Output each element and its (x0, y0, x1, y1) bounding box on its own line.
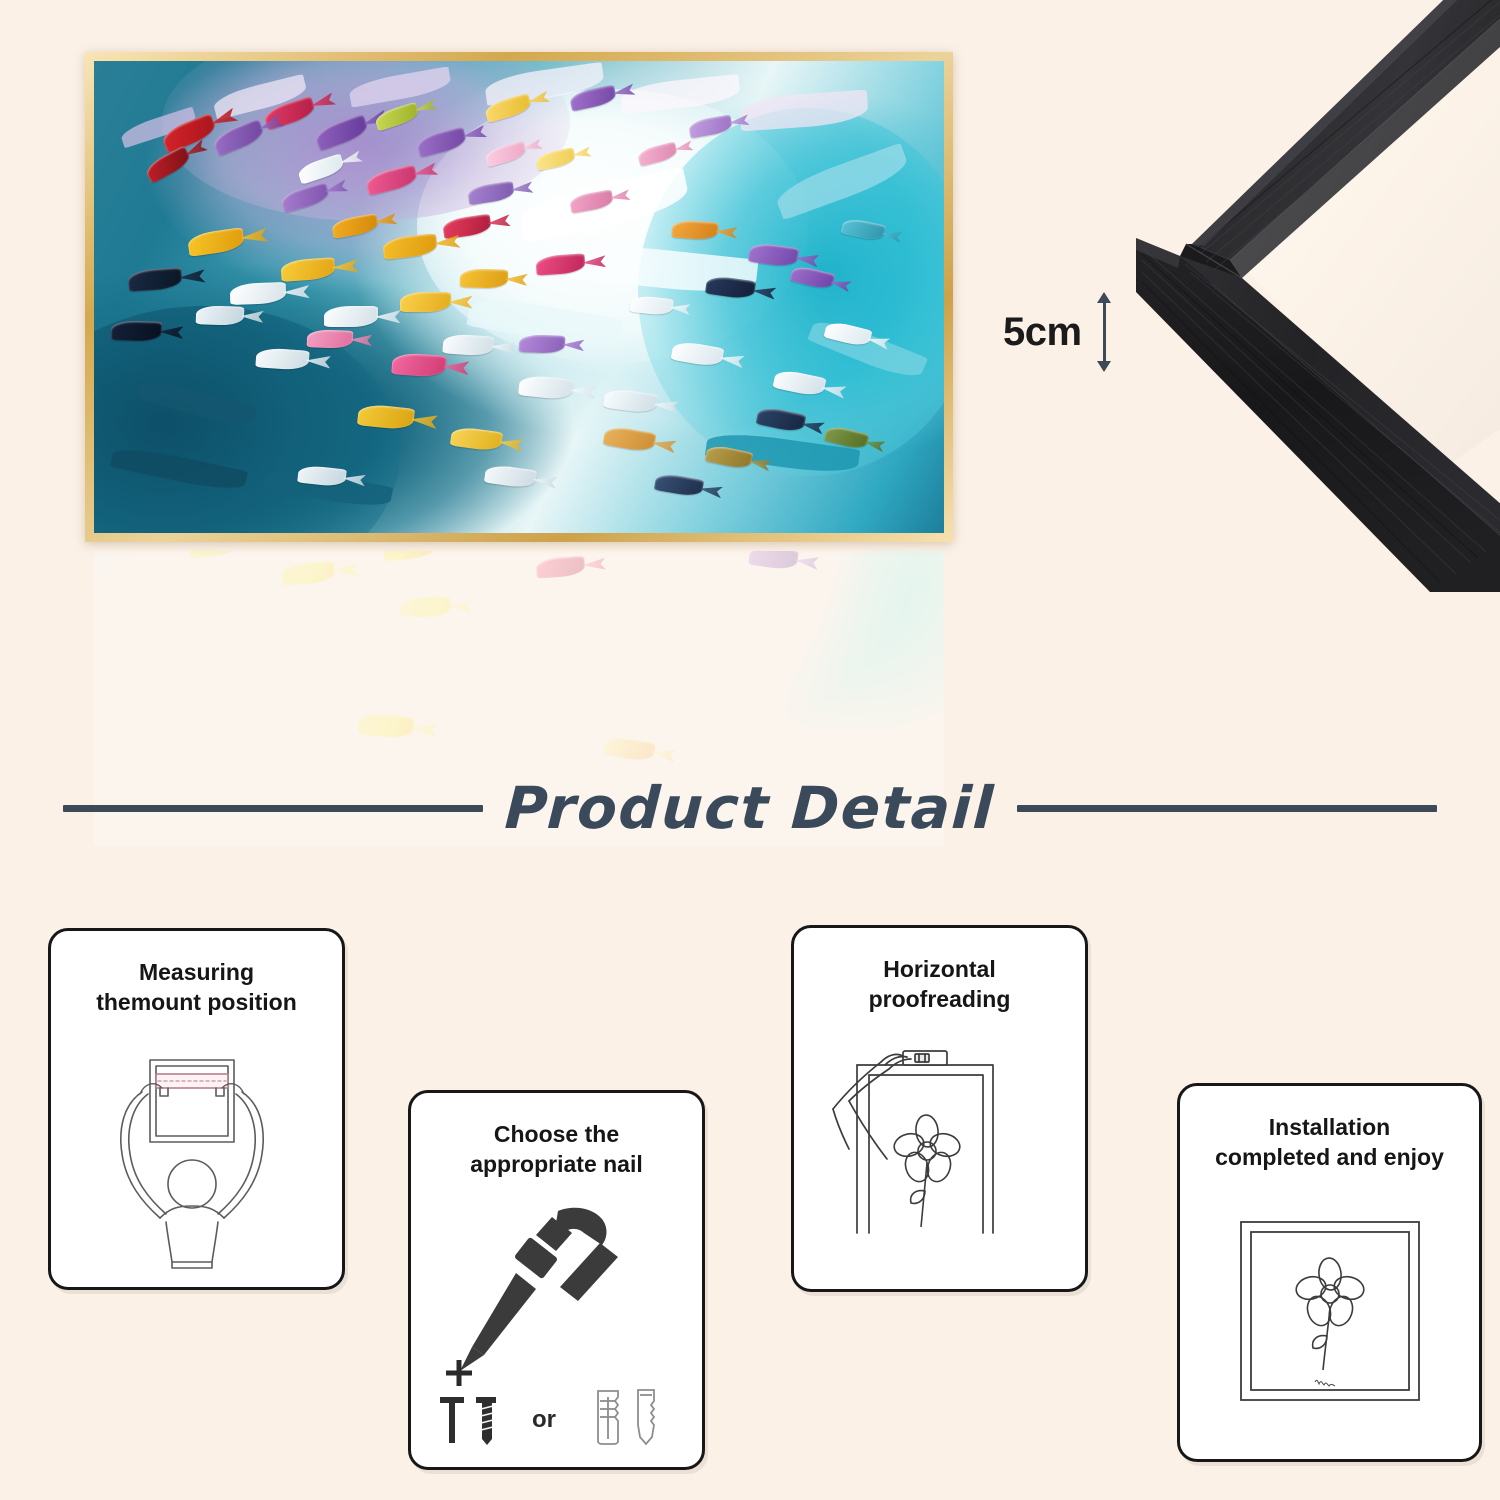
fish (306, 329, 352, 349)
vertical-double-arrow-icon (1096, 292, 1112, 372)
impasto-stroke (772, 143, 911, 221)
fish (519, 334, 565, 354)
fish (790, 264, 835, 291)
fish-reflection (356, 711, 414, 739)
card-title: Horizontal proofreading (855, 954, 1025, 1015)
fish-reflection (603, 734, 657, 763)
signature-mark (1315, 1380, 1335, 1386)
fish (535, 147, 577, 171)
black-frame-corner-photo (1130, 0, 1500, 592)
fish (688, 114, 733, 138)
fish (841, 217, 886, 242)
fish (279, 182, 330, 213)
impasto-stroke (136, 375, 257, 430)
fish (654, 472, 704, 498)
card-title: Measuring themount position (82, 957, 311, 1018)
impasto-stroke (348, 66, 453, 107)
fish (756, 406, 806, 434)
impasto-stroke (620, 74, 741, 115)
card-art (794, 1015, 1085, 1289)
fish-reflection (280, 560, 336, 585)
fish (373, 102, 420, 132)
fish-reflection (747, 551, 799, 571)
fish (391, 352, 447, 377)
flower-drawing-icon (1293, 1257, 1365, 1370)
product-detail-section-header: Product Detail (0, 768, 1500, 848)
card-art (51, 1018, 342, 1287)
fish (364, 164, 418, 196)
fish (484, 463, 537, 489)
page-title: Product Detail (482, 774, 1019, 842)
hammer-nails-anchors-icon: or (432, 1201, 682, 1446)
fish (255, 347, 309, 370)
fish (196, 306, 244, 327)
hung-framed-flower-picture-icon (1235, 1216, 1425, 1416)
screw-icon (476, 1397, 496, 1445)
fish (296, 153, 345, 184)
fish (637, 141, 679, 166)
card-art (1180, 1173, 1479, 1459)
or-label: or (532, 1406, 556, 1433)
wall-anchor-icon (598, 1391, 618, 1444)
fish-reflection (535, 555, 586, 578)
fish (772, 367, 826, 397)
hammer-icon (460, 1208, 618, 1371)
fish (382, 233, 438, 259)
frame-depth-annotation: 5cm (1003, 292, 1112, 372)
dimension-label: 5cm (1003, 310, 1082, 355)
fish (629, 295, 673, 316)
fish-reflection (382, 551, 438, 562)
frame-corner-illustration (1130, 0, 1500, 592)
card-title: Choose the appropriate nail (456, 1119, 657, 1180)
fish (400, 292, 451, 312)
fish (442, 333, 494, 356)
fish (603, 388, 658, 415)
fish-reflection (186, 551, 245, 559)
framed-artwork (85, 52, 953, 542)
instruction-card-nail[interactable]: Choose the appropriate nail (408, 1090, 705, 1470)
fish (441, 214, 491, 239)
fish (230, 282, 287, 305)
impasto-stroke (739, 90, 868, 132)
instruction-card-proofreading[interactable]: Horizontal proofreading (791, 925, 1088, 1292)
instruction-card-installed[interactable]: Installation completed and enjoy (1177, 1083, 1482, 1462)
fish (127, 267, 183, 292)
card-art: or (411, 1180, 702, 1467)
fish (280, 257, 336, 282)
fish (671, 220, 718, 241)
fish-reflection (400, 596, 451, 617)
flower-drawing-icon (891, 1114, 961, 1227)
heading-rule-right (1017, 805, 1437, 812)
nail-icon (440, 1397, 464, 1443)
person-holding-frame-with-ruler-icon (82, 1032, 312, 1272)
fish (671, 340, 725, 368)
impasto-stroke (110, 444, 248, 495)
fish (331, 213, 379, 239)
fish (211, 118, 266, 156)
fish (111, 320, 163, 342)
fish (518, 374, 574, 400)
fish (603, 425, 657, 453)
anchor-screw-icon (638, 1390, 654, 1444)
hand-with-spirit-level-on-frame-icon (815, 1047, 1065, 1257)
fish (357, 403, 415, 430)
fish (186, 227, 245, 256)
fish (484, 141, 528, 168)
heading-rule-left (63, 805, 483, 812)
card-title: Installation completed and enjoy (1201, 1112, 1458, 1173)
instruction-card-measuring[interactable]: Measuring themount position (48, 928, 345, 1290)
fish (324, 306, 378, 327)
fish (450, 426, 503, 453)
painting-canvas (94, 61, 944, 533)
impasto-stroke (807, 313, 928, 384)
fish (415, 126, 468, 157)
fish (459, 268, 507, 289)
fish (467, 181, 515, 205)
fish (313, 114, 370, 152)
